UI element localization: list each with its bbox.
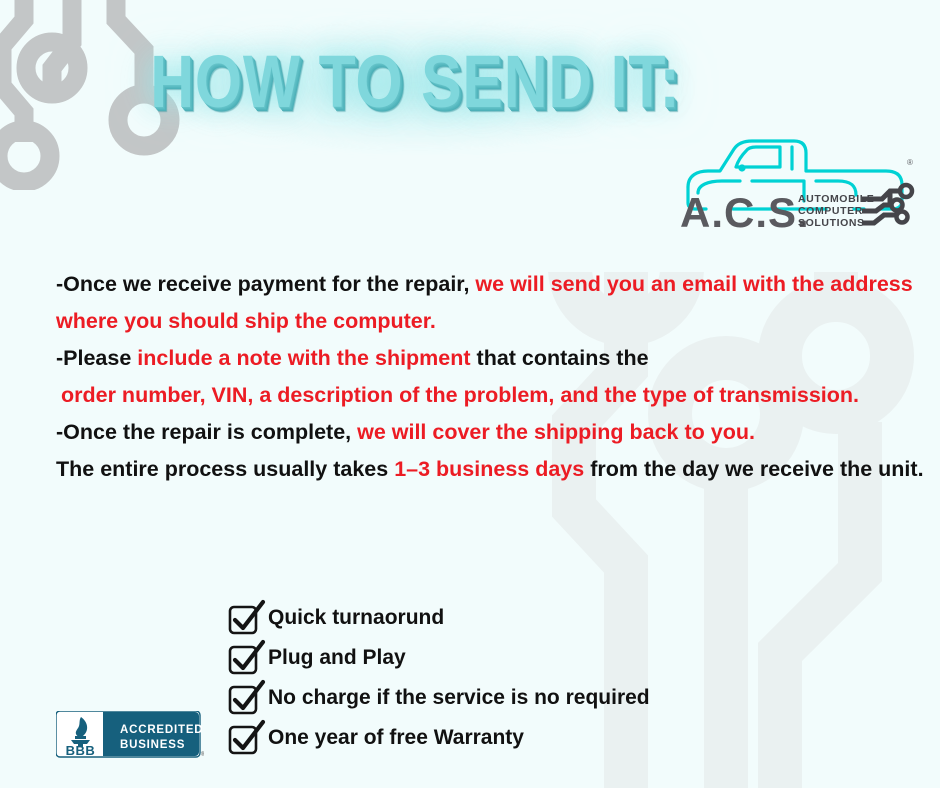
- instruction-segment-highlight: order number, VIN, a description of the …: [61, 383, 859, 407]
- checklist-item: Plug and Play: [226, 638, 786, 678]
- instruction-segment-highlight: 1–3 business days: [394, 457, 584, 481]
- page-title: HOW TO SEND IT:: [150, 42, 680, 122]
- instruction-segment-highlight: we will cover the shipping back to you.: [357, 420, 755, 444]
- instruction-segment: that contains the: [471, 346, 649, 370]
- title-glow: [150, 20, 680, 150]
- checklist-item-label: Plug and Play: [268, 646, 406, 670]
- instruction-line: order number, VIN, a description of the …: [56, 377, 856, 414]
- bbb-accredited-text: ACCREDITED: [120, 724, 203, 736]
- instruction-line: -Once we receive payment for the repair,…: [56, 266, 856, 303]
- instruction-segment: -Please: [56, 346, 137, 370]
- checkbox-checked-icon: [226, 639, 266, 677]
- logo-word-computer: COMPUTER: [798, 205, 863, 217]
- checkbox-checked-icon: [226, 679, 266, 717]
- checklist-item: One year of free Warranty: [226, 718, 786, 758]
- instruction-segment-highlight: include a note with the shipment: [137, 346, 470, 370]
- flyer-page: HOW TO SEND IT: ® A.C.S. A: [0, 0, 940, 788]
- instruction-line: The entire process usually takes 1–3 bus…: [56, 451, 856, 488]
- logo-word-solutions: SOLUTIONS: [798, 217, 865, 229]
- checkbox-checked-icon: [226, 719, 266, 757]
- logo-initials: A.C.S.: [680, 189, 810, 230]
- bbb-registered-symbol: ®: [201, 751, 204, 758]
- checklist-item-label: One year of free Warranty: [268, 726, 524, 750]
- instructions-block: -Once we receive payment for the repair,…: [56, 266, 856, 488]
- instruction-line: -Once the repair is complete, we will co…: [56, 414, 856, 451]
- circuit-decoration-top-left: [0, 0, 204, 190]
- instruction-segment: -Once the repair is complete,: [56, 420, 357, 444]
- instruction-segment-highlight: we will send you an email with the addre…: [475, 272, 912, 296]
- page-title-container: HOW TO SEND IT:: [0, 42, 830, 122]
- instruction-segment-highlight: where you should ship the computer.: [56, 309, 436, 333]
- benefits-checklist: Quick turnaorund Plug and Play No charge…: [226, 598, 786, 758]
- registered-trademark-symbol: ®: [907, 158, 913, 167]
- acs-logo: ® A.C.S. AUTOMOBILE COMPUTER SOLUTIONS: [676, 135, 916, 230]
- instruction-segment: -Once we receive payment for the repair,: [56, 272, 475, 296]
- bbb-mark-text: BBB: [66, 743, 96, 758]
- checkbox-checked-icon: [226, 599, 266, 637]
- checklist-item-label: Quick turnaorund: [268, 606, 444, 630]
- checklist-item-label: No charge if the service is no required: [268, 686, 650, 710]
- instruction-line: -Please include a note with the shipment…: [56, 340, 856, 377]
- checklist-item: Quick turnaorund: [226, 598, 786, 638]
- checklist-item: No charge if the service is no required: [226, 678, 786, 718]
- bbb-accredited-business-badge[interactable]: BBB ACCREDITED BUSINESS ®: [56, 711, 204, 759]
- instruction-segment: from the day we receive the unit.: [584, 457, 923, 481]
- bbb-business-text: BUSINESS: [120, 739, 185, 751]
- instruction-segment: The entire process usually takes: [56, 457, 394, 481]
- instruction-line: where you should ship the computer.: [56, 303, 856, 340]
